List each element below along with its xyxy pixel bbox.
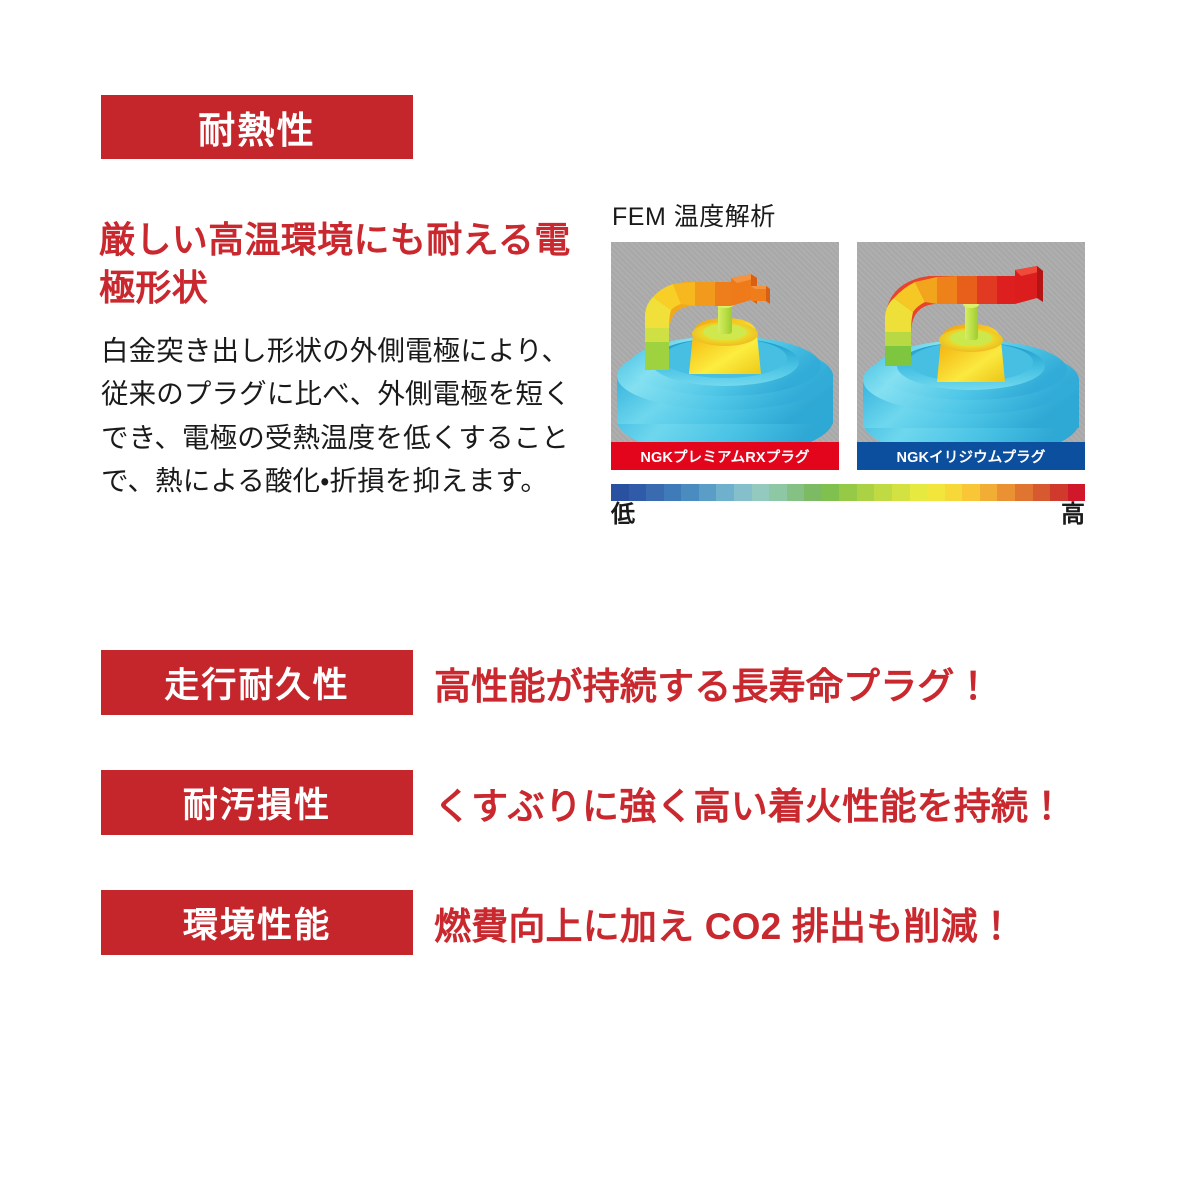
scale-swatch-11 — [804, 484, 822, 501]
fem-analysis-panel: FEM 温度解析 — [611, 200, 1085, 528]
scale-swatch-9 — [769, 484, 787, 501]
fem-thermal-image-iridium — [857, 242, 1085, 442]
scale-swatch-6 — [716, 484, 734, 501]
scale-swatch-5 — [699, 484, 717, 501]
scale-swatch-2 — [646, 484, 664, 501]
scale-swatch-13 — [839, 484, 857, 501]
fem-band-premium-rx: NGKプレミアムRXプラグ — [611, 442, 839, 470]
scale-swatch-26 — [1068, 484, 1086, 501]
fem-card-iridium: NGKイリジウムプラグ — [857, 242, 1085, 470]
feature-badge-environment: 環境性能 — [101, 890, 413, 955]
feature-text-environment: 燃費向上に加え CO2 排出も削減！ — [434, 890, 1015, 955]
scale-label-low: 低 — [611, 502, 635, 528]
scale-swatch-12 — [822, 484, 840, 501]
fem-caption: FEM 温度解析 — [612, 200, 1085, 234]
fem-thermal-image-premium-rx — [611, 242, 839, 442]
scale-swatch-8 — [752, 484, 770, 501]
feature-row-durability: 走行耐久性 高性能が持続する長寿命プラグ！ — [101, 650, 1101, 715]
scale-swatch-21 — [980, 484, 998, 501]
scale-swatch-0 — [611, 484, 629, 501]
feature-text-fouling: くすぶりに強く高い着火性能を持続！ — [434, 770, 1065, 835]
scale-swatch-17 — [910, 484, 928, 501]
scale-swatch-14 — [857, 484, 875, 501]
heat-resistance-headline: 厳しい高温環境にも耐える電極形状 — [99, 216, 599, 312]
feature-row-environment: 環境性能 燃費向上に加え CO2 排出も削減！ — [101, 890, 1101, 955]
fem-plug-illustration-ir — [857, 242, 1085, 442]
fem-card-premium-rx: NGKプレミアムRXプラグ — [611, 242, 839, 470]
fem-color-scale-bar — [611, 484, 1085, 501]
feature-badge-fouling: 耐汚損性 — [101, 770, 413, 835]
scale-swatch-25 — [1050, 484, 1068, 501]
fem-color-scale-labels: 低 高 — [611, 502, 1085, 528]
scale-swatch-20 — [962, 484, 980, 501]
heat-resistance-badge: 耐熱性 — [101, 95, 413, 159]
scale-swatch-4 — [681, 484, 699, 501]
fem-image-pair: NGKプレミアムRXプラグ — [611, 242, 1085, 470]
feature-text-durability: 高性能が持続する長寿命プラグ！ — [434, 650, 992, 715]
scale-swatch-15 — [874, 484, 892, 501]
scale-swatch-22 — [997, 484, 1015, 501]
heat-resistance-body-text: 白金突き出し形状の外側電極により、従来のプラグに比べ、外側電極を短くでき、電極の… — [101, 329, 593, 503]
scale-swatch-7 — [734, 484, 752, 501]
scale-swatch-10 — [787, 484, 805, 501]
feature-badge-durability: 走行耐久性 — [101, 650, 413, 715]
scale-swatch-16 — [892, 484, 910, 501]
scale-swatch-23 — [1015, 484, 1033, 501]
scale-swatch-24 — [1033, 484, 1051, 501]
heat-resistance-body: 白金突き出し形状の外側電極により、従来のプラグに比べ、外側電極を短くでき、電極の… — [101, 329, 593, 503]
heat-resistance-section: 耐熱性 厳しい高温環境にも耐える電極形状 白金突き出し形状の外側電極により、従来… — [0, 0, 1200, 600]
feature-row-fouling: 耐汚損性 くすぶりに強く高い着火性能を持続！ — [101, 770, 1101, 835]
scale-label-high: 高 — [1061, 502, 1085, 528]
fem-plug-illustration-rx — [611, 242, 839, 442]
scale-swatch-3 — [664, 484, 682, 501]
scale-swatch-1 — [629, 484, 647, 501]
scale-swatch-19 — [945, 484, 963, 501]
scale-swatch-18 — [927, 484, 945, 501]
fem-band-iridium: NGKイリジウムプラグ — [857, 442, 1085, 470]
fem-color-scale: 低 高 — [611, 484, 1085, 528]
